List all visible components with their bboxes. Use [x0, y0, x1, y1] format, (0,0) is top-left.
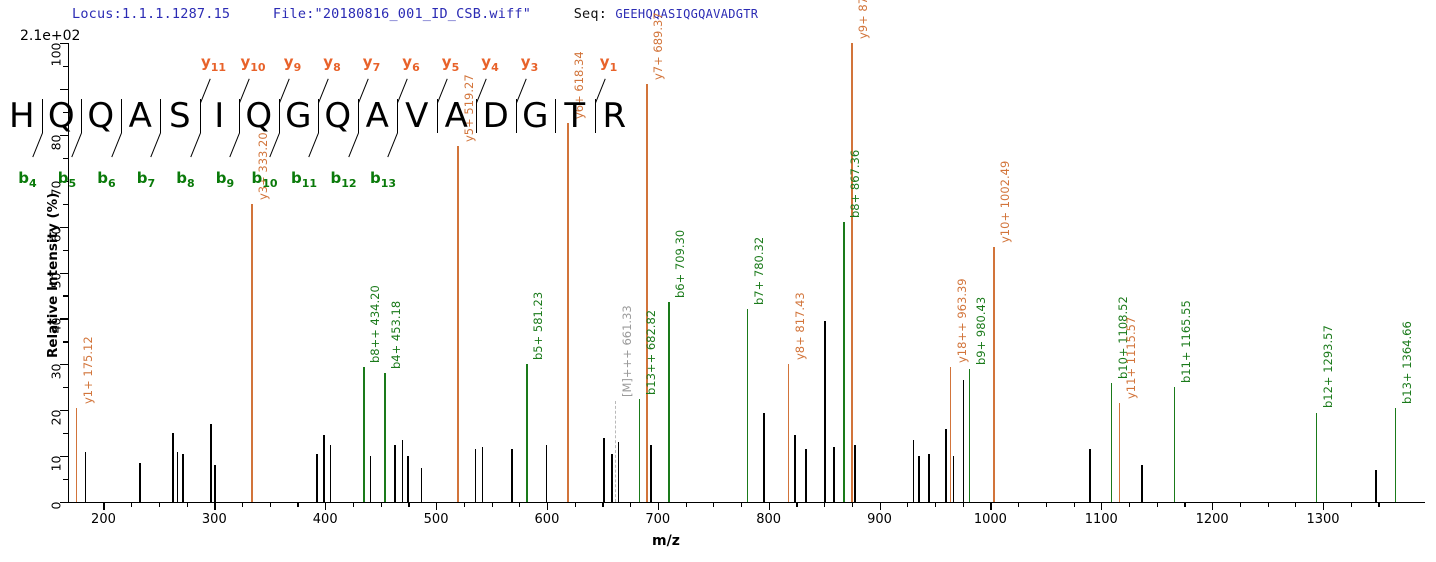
peak-unassigned: [370, 456, 372, 502]
b-ion-label: b8: [176, 169, 194, 190]
peak-unassigned: [172, 433, 174, 502]
peak-y-ion: [1119, 403, 1121, 502]
peak-b-ion: [363, 367, 365, 502]
x-tick-minor: [741, 502, 742, 507]
residue-letter: G: [522, 96, 548, 136]
x-tick-label: 400: [313, 512, 338, 527]
peak-label: b7+ 780.32: [752, 237, 766, 305]
residue-divider: [595, 99, 596, 133]
x-tick-label: 700: [645, 512, 670, 527]
x-tick-minor: [159, 502, 160, 507]
peak-unassigned: [805, 449, 807, 502]
residue-divider: [42, 99, 43, 133]
x-tick-minor: [270, 502, 271, 507]
seq-label: Seq:: [574, 6, 607, 22]
peak-b-ion: [1316, 413, 1318, 503]
peak-unassigned: [182, 454, 184, 502]
peak-label: b11+ 1165.55: [1179, 300, 1193, 383]
y-ion-label: y3: [521, 53, 538, 74]
peak-unassigned: [611, 454, 613, 502]
peak-b-ion: [668, 302, 670, 502]
x-tick-minor: [575, 502, 576, 507]
residue-divider: [239, 99, 240, 133]
b-ion-label: b6: [97, 169, 115, 190]
x-tick: [547, 502, 548, 510]
residue-divider: [160, 99, 161, 133]
peak-unassigned: [177, 452, 179, 502]
spectrum-viewer: Locus:1.1.1.1287.15 File:"20180816_001_I…: [0, 0, 1436, 562]
y-tick-label: 30: [49, 364, 64, 380]
peak-unassigned: [650, 445, 652, 502]
residue-divider: [279, 99, 280, 133]
y-ion-label: y5: [442, 53, 459, 74]
x-tick-minor: [1240, 502, 1241, 507]
peak-unassigned: [763, 413, 765, 503]
residue-letter: Q: [245, 96, 272, 136]
x-axis-title: m/z: [652, 533, 680, 549]
peak-label: y10+ 1002.49: [998, 161, 1012, 243]
y-tick-label: 10: [49, 456, 64, 472]
peak-unassigned: [794, 435, 796, 502]
x-tick-label: 1300: [1306, 512, 1339, 527]
y-tick-label: 40: [49, 318, 64, 334]
peak-b-ion: [384, 373, 386, 502]
residue-letter: Q: [48, 96, 75, 136]
peak-b-ion: [526, 364, 528, 502]
peak-y-ion: [251, 204, 253, 502]
residue-letter: A: [366, 96, 389, 136]
x-tick-label: 900: [867, 512, 892, 527]
residue-letter: I: [214, 96, 224, 136]
residue-divider: [555, 99, 556, 133]
peak-y-ion: [567, 123, 569, 502]
peak-label: b9+ 980.43: [974, 297, 988, 365]
x-tick-minor: [519, 502, 520, 507]
peak-y-ion: [76, 408, 78, 502]
peak-b-ion: [747, 309, 749, 502]
y-ion-label: y8: [323, 53, 340, 74]
x-tick-label: 1100: [1085, 512, 1118, 527]
peak-label: b6+ 709.30: [673, 230, 687, 298]
x-tick: [325, 502, 326, 510]
y-tick-label: 20: [49, 410, 64, 426]
peak-label: b8++ 434.20: [368, 285, 382, 363]
residue-letter: R: [602, 96, 626, 136]
peak-unassigned: [402, 440, 404, 502]
x-tick-minor: [824, 502, 825, 507]
residue-letter: Q: [324, 96, 351, 136]
residue-divider: [516, 99, 517, 133]
peak-y-ion: [457, 146, 459, 502]
peak-y-ion: [788, 364, 790, 502]
peak-label: y8+ 817.43: [793, 293, 807, 361]
x-tick-minor: [1018, 502, 1019, 507]
residue-letter: T: [564, 96, 585, 136]
residue-divider: [200, 99, 201, 133]
peak-unassigned: [1375, 470, 1377, 502]
y-tick-label: 60: [49, 226, 64, 242]
peak-unassigned: [407, 456, 409, 502]
y-ion-label: y9: [284, 53, 301, 74]
peak-unassigned: [918, 456, 920, 502]
x-tick-label: 600: [535, 512, 560, 527]
peak-label: y18++ 963.39: [955, 278, 969, 363]
b-ion-label: b5: [58, 169, 76, 190]
peak-unassigned: [1141, 465, 1143, 502]
x-tick: [103, 502, 104, 510]
b-ion-label: b12: [330, 169, 356, 190]
peak-precursor-ion: [615, 401, 616, 502]
x-tick-minor: [1157, 502, 1158, 507]
x-tick-minor: [464, 502, 465, 507]
peak-unassigned: [330, 445, 332, 502]
x-tick-minor: [602, 502, 603, 507]
peak-y-ion: [646, 84, 648, 502]
x-tick-minor: [796, 502, 797, 507]
peak-unassigned: [316, 454, 318, 502]
y-ion-label: y10: [240, 53, 265, 74]
x-tick-minor: [935, 502, 936, 507]
peak-y-ion: [851, 43, 853, 502]
x-tick-minor: [492, 502, 493, 507]
peak-unassigned: [618, 442, 620, 502]
residue-letter: D: [483, 96, 509, 136]
y-ion-label: y7: [363, 53, 380, 74]
residue-divider: [318, 99, 319, 133]
x-tick-minor: [686, 502, 687, 507]
x-tick-minor: [187, 502, 188, 507]
x-tick-minor: [1268, 502, 1269, 507]
b-ion-label: b10: [251, 169, 277, 190]
peak-b-ion: [1395, 408, 1397, 502]
x-tick-minor: [713, 502, 714, 507]
x-tick: [880, 502, 881, 510]
peak-unassigned: [833, 447, 835, 502]
y-tick-label: 50: [49, 272, 64, 288]
x-tick: [436, 502, 437, 510]
y-ion-label: y11: [201, 53, 226, 74]
b-ion-label: b11: [291, 169, 317, 190]
residue-letter: Q: [87, 96, 114, 136]
x-tick-label: 300: [202, 512, 227, 527]
x-tick-label: 1000: [974, 512, 1007, 527]
peak-unassigned: [945, 429, 947, 502]
sequence-ladder: HQQASIQGQAVADGTRy11y10y9y8y7y6y5y4y3y1b4…: [0, 50, 640, 142]
peak-b-ion: [1111, 383, 1113, 502]
x-tick-label: 200: [91, 512, 116, 527]
b-ion-label: b13: [370, 169, 396, 190]
locus-text: Locus:1.1.1.1287.15: [72, 6, 230, 22]
x-tick-minor: [1351, 502, 1352, 507]
x-tick: [214, 502, 215, 510]
residue-letter: S: [169, 96, 191, 136]
residue-divider: [121, 99, 122, 133]
residue-letter: A: [129, 96, 152, 136]
residue-divider: [358, 99, 359, 133]
residue-divider: [81, 99, 82, 133]
peak-unassigned: [323, 435, 325, 502]
residue-letter: A: [445, 96, 468, 136]
seq-value: GEEHQQASIQGQAVADGTR: [615, 7, 758, 21]
x-tick-label: 500: [424, 512, 449, 527]
residue-letter: V: [405, 96, 428, 136]
peak-label: y9+ 874.45: [856, 0, 870, 39]
x-tick-minor: [242, 502, 243, 507]
peak-label: b13++ 682.82: [644, 310, 658, 395]
peak-unassigned: [482, 447, 484, 502]
peak-b-ion: [1174, 387, 1176, 502]
peak-unassigned: [953, 456, 955, 502]
peak-unassigned: [511, 449, 513, 502]
peak-label: b12+ 1293.57: [1321, 326, 1335, 409]
peak-unassigned: [603, 438, 605, 502]
b-ion-tick: [32, 133, 43, 158]
y-ion-label: y6: [402, 53, 419, 74]
y-ion-label: y1: [600, 53, 617, 74]
x-tick-minor: [1184, 502, 1185, 507]
file-text: File:"20180816_001_ID_CSB.wiff": [273, 6, 531, 22]
peak-label: b8+ 867.36: [848, 150, 862, 218]
y-tick-label: 0: [49, 502, 64, 510]
peak-label: y7+ 689.37: [651, 13, 665, 81]
x-tick-minor: [1129, 502, 1130, 507]
peak-unassigned: [854, 445, 856, 502]
peak-b-ion: [969, 369, 971, 502]
peak-unassigned: [546, 445, 548, 502]
peak-unassigned: [475, 449, 477, 502]
peak-unassigned: [139, 463, 141, 502]
x-tick-minor: [1074, 502, 1075, 507]
peak-unassigned: [963, 380, 965, 502]
peak-unassigned: [913, 440, 915, 502]
peak-b-ion: [843, 222, 845, 502]
y-ion-tick: [200, 79, 211, 104]
x-tick-minor: [963, 502, 964, 507]
peak-label: b13+ 1364.66: [1400, 321, 1414, 404]
residue-letter: H: [9, 96, 35, 136]
peak-y-ion: [950, 367, 952, 502]
residue-divider: [397, 99, 398, 133]
x-tick: [1212, 502, 1213, 510]
x-tick-minor: [1046, 502, 1047, 507]
peak-unassigned: [214, 465, 216, 502]
x-tick-minor: [1295, 502, 1296, 507]
x-tick-minor: [131, 502, 132, 507]
x-tick-minor: [381, 502, 382, 507]
peak-label: [M]+++ 661.33: [620, 305, 634, 397]
x-tick-minor: [408, 502, 409, 507]
b-ion-label: b9: [216, 169, 234, 190]
x-tick-minor: [297, 502, 298, 507]
peak-unassigned: [421, 468, 423, 502]
x-tick-minor: [907, 502, 908, 507]
peak-label: y11+ 1115.57: [1124, 317, 1138, 399]
peak-unassigned: [824, 321, 826, 502]
peak-label: b5+ 581.23: [531, 292, 545, 360]
x-tick: [769, 502, 770, 510]
x-tick-minor: [1378, 502, 1379, 507]
peak-unassigned: [928, 454, 930, 502]
peak-label: b4+ 453.18: [389, 301, 403, 369]
y-ion-label: y4: [481, 53, 498, 74]
peak-unassigned: [85, 452, 87, 502]
peak-b-ion: [639, 399, 641, 502]
x-tick-label: 1200: [1196, 512, 1229, 527]
x-tick: [1101, 502, 1102, 510]
b-ion-label: b4: [18, 169, 36, 190]
residue-divider: [476, 99, 477, 133]
peak-label: y1+ 175.12: [81, 336, 95, 404]
residue-divider: [437, 99, 438, 133]
x-tick-label: 800: [756, 512, 781, 527]
x-tick: [990, 502, 991, 510]
residue-letter: G: [285, 96, 311, 136]
peak-unassigned: [1089, 449, 1091, 502]
x-tick-minor: [852, 502, 853, 507]
b-ion-label: b7: [137, 169, 155, 190]
x-tick: [1323, 502, 1324, 510]
peak-unassigned: [394, 445, 396, 502]
x-tick-minor: [353, 502, 354, 507]
peak-y-ion: [993, 247, 995, 502]
x-tick: [658, 502, 659, 510]
peak-unassigned: [210, 424, 212, 502]
x-tick-minor: [630, 502, 631, 507]
